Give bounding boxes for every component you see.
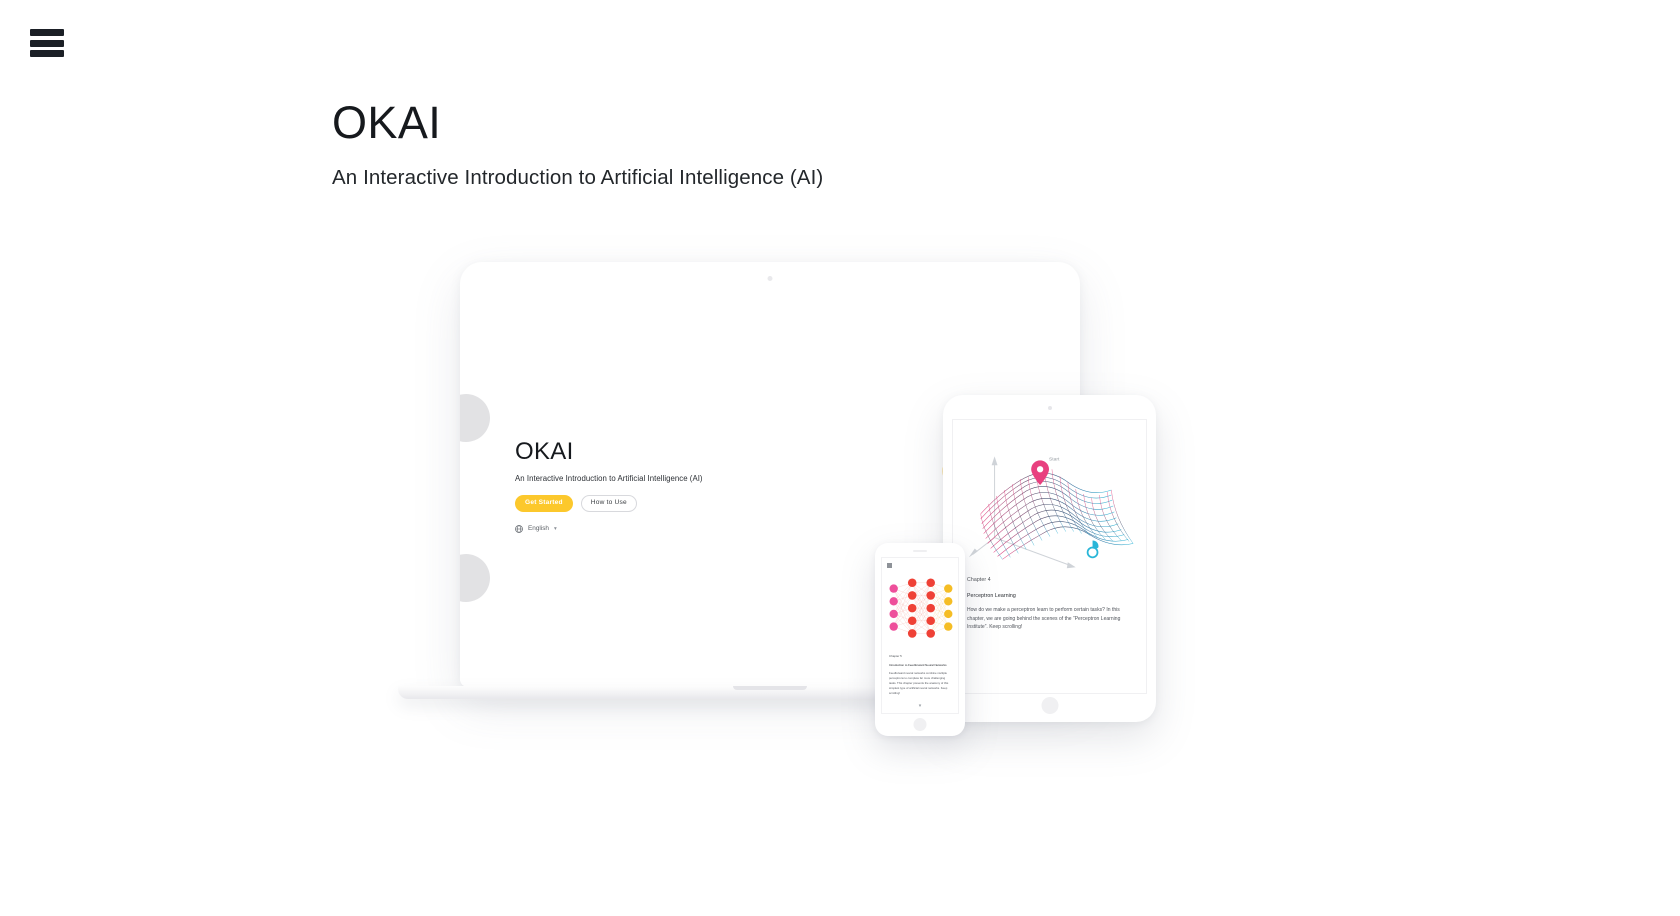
hamburger-menu-icon-bar-2 (30, 40, 64, 47)
tablet-home-button[interactable] (1041, 697, 1058, 714)
how-to-use-button[interactable]: How to Use (581, 495, 637, 512)
target-marker-icon (1088, 541, 1099, 558)
page-heading: OKAI An Interactive Introduction to Arti… (332, 98, 823, 190)
language-value: English (528, 525, 549, 532)
chevron-down-icon: ▾ (554, 526, 557, 532)
phone-home-button[interactable] (914, 718, 927, 731)
tablet-camera-icon (1048, 406, 1052, 410)
get-started-button[interactable]: Get Started (515, 495, 573, 512)
laptop-button-row: Get Started How to Use (515, 495, 795, 512)
menu-icon[interactable] (887, 563, 892, 568)
language-selector[interactable]: English ▾ (515, 525, 795, 533)
phone-page-content: Chapter 5 Introduction to Feedforward Ne… (889, 654, 952, 695)
device-showcase: OKAI An Interactive Introduction to Arti… (330, 225, 1230, 765)
hamburger-menu-button[interactable] (30, 26, 64, 60)
tablet-screen: Start Chapter 4 Perceptron Learning How … (952, 419, 1147, 694)
hamburger-menu-icon-bar-1 (30, 29, 64, 36)
tablet-chapter-title: Perceptron Learning (967, 593, 1136, 599)
laptop-tagline: An Interactive Introduction to Artificia… (515, 474, 795, 483)
laptop-camera-icon (768, 276, 773, 281)
scroll-down-caret-icon[interactable]: ▾ (919, 703, 922, 709)
hamburger-menu-icon-bar-3 (30, 50, 64, 57)
tablet-page-content: Chapter 4 Perceptron Learning How do we … (967, 577, 1136, 632)
page-title: OKAI (332, 98, 823, 148)
decorative-gray-dot-bottom-left (460, 554, 490, 602)
page-subtitle: An Interactive Introduction to Artificia… (332, 166, 823, 190)
laptop-brand-title: OKAI (515, 438, 795, 466)
svg-text:Start: Start (1049, 456, 1060, 462)
tablet-chapter-body: How do we make a perceptron learn to per… (967, 606, 1136, 632)
phone-chapter-title: Introduction to Feedforward Neural Netwo… (889, 663, 952, 667)
laptop-base-notch (733, 686, 807, 690)
phone-screen: Chapter 5 Introduction to Feedforward Ne… (881, 557, 959, 714)
3d-error-surface-mesh-icon: Start (953, 420, 1146, 570)
phone-chapter-label: Chapter 5 (889, 654, 952, 658)
phone-device: Chapter 5 Introduction to Feedforward Ne… (875, 543, 965, 736)
globe-icon (515, 525, 523, 533)
phone-speaker-icon (913, 550, 927, 552)
neural-network-diagram-icon (882, 574, 958, 650)
decorative-gray-dot-top-left (460, 394, 490, 442)
tablet-chapter-label: Chapter 4 (967, 577, 1136, 583)
phone-chapter-body: Feedforward neural networks combine mult… (889, 671, 952, 695)
tablet-device: Start Chapter 4 Perceptron Learning How … (943, 395, 1156, 722)
laptop-page-content: OKAI An Interactive Introduction to Arti… (515, 438, 795, 533)
